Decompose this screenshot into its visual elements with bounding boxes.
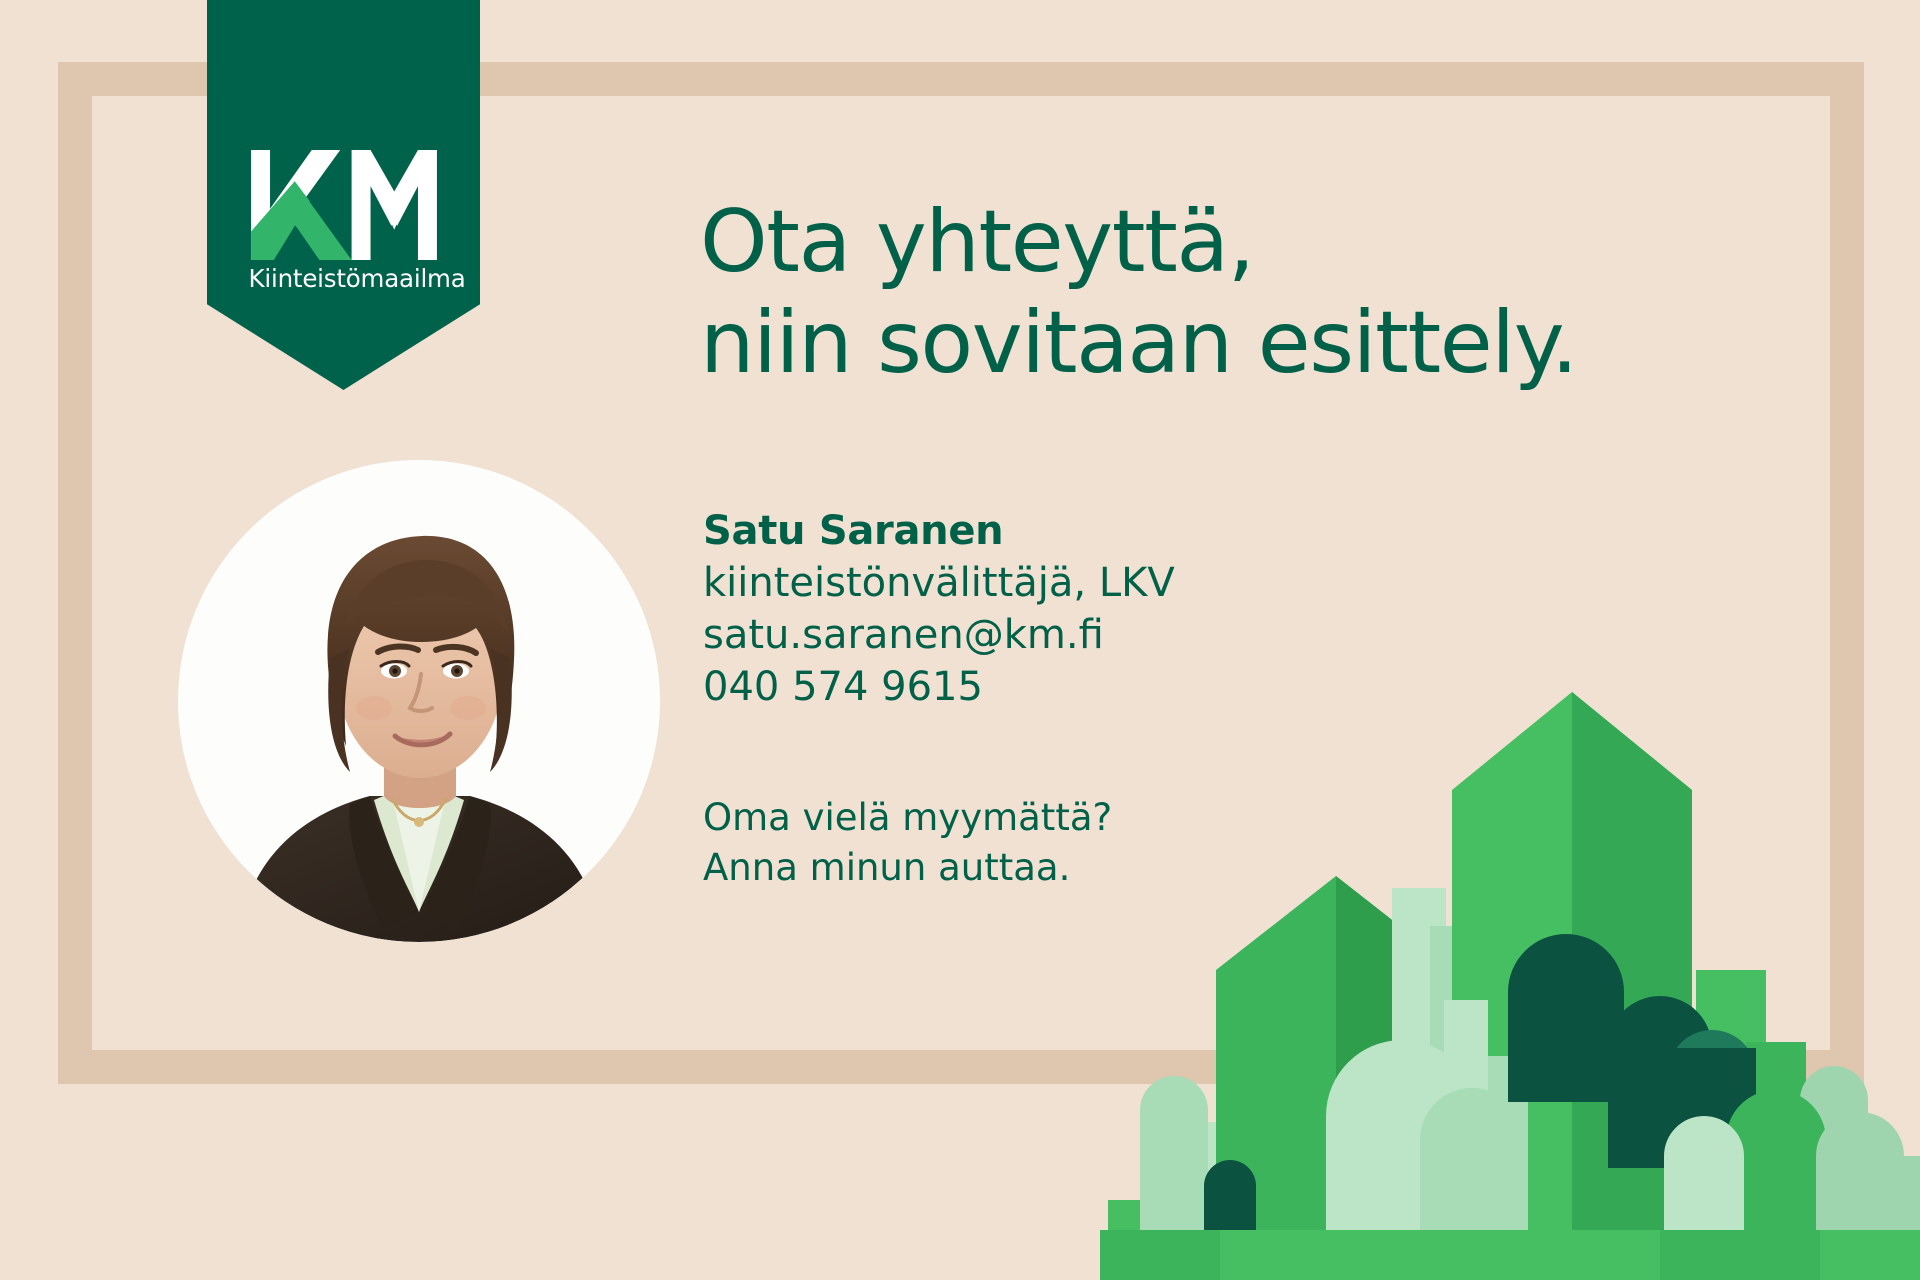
km-monogram-icon	[249, 150, 439, 260]
avatar	[178, 460, 660, 942]
tagline-line-2: Anna minun auttaa.	[703, 843, 1112, 893]
agent-phone[interactable]: 040 574 9615	[703, 661, 1175, 713]
agent-title: kiinteistönvälittäjä, LKV	[703, 557, 1175, 609]
headline-line-1: Ota yhteyttä,	[700, 192, 1577, 293]
logo-wordmark: Kiinteistömaailma	[249, 264, 439, 293]
tagline: Oma vielä myymättä? Anna minun auttaa.	[703, 793, 1112, 894]
km-logo: Kiinteistömaailma	[249, 150, 439, 293]
agent-name: Satu Saranen	[703, 505, 1175, 557]
tagline-line-1: Oma vielä myymättä?	[703, 793, 1112, 843]
cityscape-illustration	[1100, 670, 1920, 1280]
cityscape-graphic	[1100, 670, 1920, 1280]
contact-card: Kiinteistömaailma Ota yhteyttä, niin sov…	[0, 0, 1920, 1280]
headline: Ota yhteyttä, niin sovitaan esittely.	[700, 192, 1577, 395]
headline-line-2: niin sovitaan esittely.	[700, 293, 1577, 394]
contact-details: Satu Saranen kiinteistönvälittäjä, LKV s…	[703, 505, 1175, 713]
agent-email[interactable]: satu.saranen@km.fi	[703, 609, 1175, 661]
agent-portrait-image	[178, 460, 660, 942]
